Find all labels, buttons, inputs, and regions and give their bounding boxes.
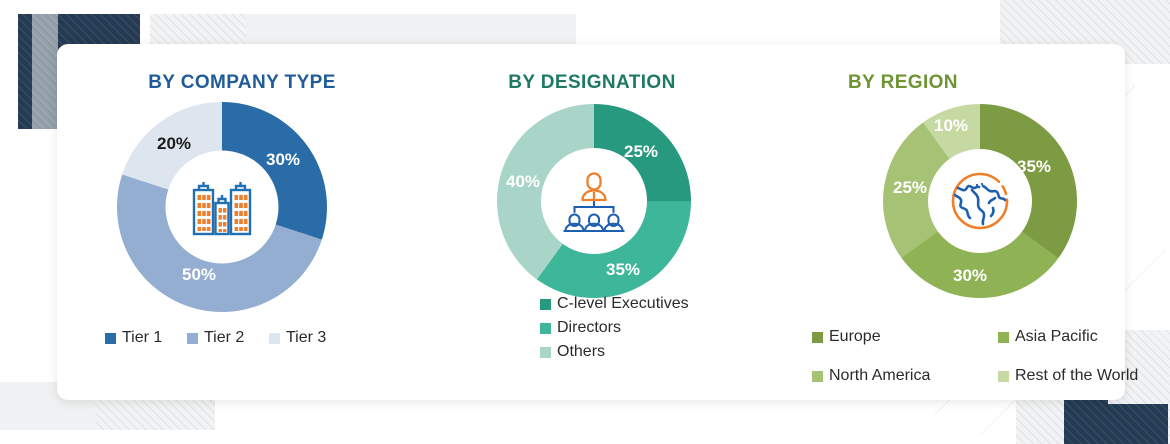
legend-swatch-north-america	[812, 371, 823, 382]
legend-label-north-america: North America	[829, 368, 930, 384]
legend-item-rest-of-the-world[interactable]: Rest of the World	[998, 368, 1170, 384]
panel-by-designation: BY DESIGNATION	[427, 44, 757, 400]
bg-hatch-left	[32, 14, 58, 129]
legend-label-others: Others	[557, 344, 605, 360]
legend-item-asia-pacific[interactable]: Asia Pacific	[998, 329, 1170, 345]
legend-label-tier-2: Tier 2	[204, 330, 244, 346]
chart-title-region: BY REGION	[719, 72, 1087, 94]
slice-label-rest-of-the-world: 10%	[934, 116, 968, 136]
slice-label-c-level: 25%	[624, 142, 658, 162]
slice-label-tier-1: 30%	[266, 150, 300, 170]
slice-label-others: 40%	[506, 172, 540, 192]
legend-label-rest-of-the-world: Rest of the World	[1015, 368, 1138, 384]
legend-swatch-others	[540, 347, 551, 358]
legend-company-type: Tier 1 Tier 2 Tier 3	[105, 330, 326, 346]
infographic-stage: BY COMPANY TYPE	[0, 0, 1170, 444]
office-buildings-icon	[189, 176, 255, 238]
legend-swatch-rest-of-the-world	[998, 371, 1009, 382]
legend-label-tier-1: Tier 1	[122, 330, 162, 346]
slice-label-tier-3: 20%	[157, 134, 191, 154]
chart-title-designation: BY DESIGNATION	[427, 72, 757, 94]
legend-item-tier-3[interactable]: Tier 3	[269, 330, 326, 346]
legend-designation: C-level Executives Directors Others	[540, 296, 689, 368]
panel-by-region: BY REGION	[757, 44, 1125, 400]
legend-swatch-directors	[540, 323, 551, 334]
legend-item-north-america[interactable]: North America	[812, 368, 998, 384]
legend-region: Europe Asia Pacific North America Rest o…	[812, 329, 1170, 384]
legend-item-c-level-executives[interactable]: C-level Executives	[540, 296, 689, 312]
donut-chart-designation[interactable]: 25% 35% 40%	[497, 104, 691, 298]
legend-swatch-tier-2	[187, 333, 198, 344]
legend-label-tier-3: Tier 3	[286, 330, 326, 346]
bg-navy-bottom-bar	[1064, 404, 1168, 444]
slice-label-north-america: 25%	[893, 178, 927, 198]
legend-item-others[interactable]: Others	[540, 344, 689, 360]
legend-label-directors: Directors	[557, 320, 621, 336]
globe-icon	[947, 168, 1013, 234]
donut-chart-company-type[interactable]: 30% 50% 20%	[117, 102, 327, 312]
legend-swatch-tier-1	[105, 333, 116, 344]
slice-label-asia-pacific: 30%	[953, 266, 987, 286]
legend-swatch-c-level-executives	[540, 299, 551, 310]
legend-swatch-tier-3	[269, 333, 280, 344]
legend-label-europe: Europe	[829, 329, 881, 345]
legend-item-tier-1[interactable]: Tier 1	[105, 330, 187, 346]
panel-by-company-type: BY COMPANY TYPE	[57, 44, 427, 400]
legend-item-europe[interactable]: Europe	[812, 329, 998, 345]
content-card: BY COMPANY TYPE	[57, 44, 1125, 400]
legend-swatch-europe	[812, 332, 823, 343]
chart-title-company-type: BY COMPANY TYPE	[57, 72, 427, 94]
org-chart-people-icon	[561, 169, 627, 233]
legend-label-asia-pacific: Asia Pacific	[1015, 329, 1098, 345]
slice-label-europe: 35%	[1017, 157, 1051, 177]
legend-item-tier-2[interactable]: Tier 2	[187, 330, 269, 346]
legend-swatch-asia-pacific	[998, 332, 1009, 343]
slice-label-directors: 35%	[606, 260, 640, 280]
legend-item-directors[interactable]: Directors	[540, 320, 689, 336]
donut-chart-region[interactable]: 35% 30% 25% 10%	[883, 104, 1077, 298]
legend-label-c-level-executives: C-level Executives	[557, 296, 689, 312]
slice-label-tier-2: 50%	[182, 265, 216, 285]
